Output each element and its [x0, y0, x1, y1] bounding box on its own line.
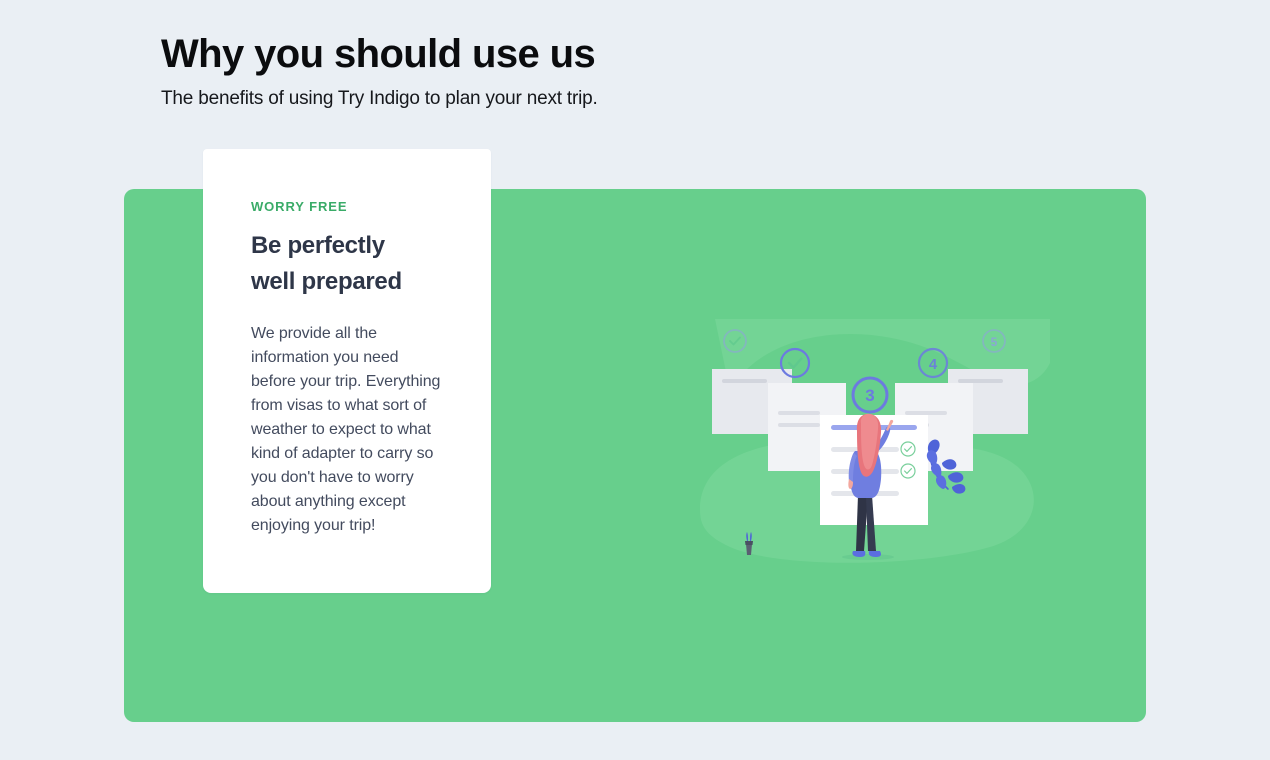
- feature-card: WORRY FREE Be perfectly well prepared We…: [203, 149, 491, 593]
- document-line: [778, 411, 820, 415]
- document-line: [778, 423, 820, 427]
- document-line: [958, 379, 1003, 383]
- card-heading-line1: Be perfectly: [251, 232, 385, 259]
- card-heading-line2: well prepared: [251, 268, 402, 295]
- step-circle-5-label: 5: [991, 335, 998, 349]
- checklist-illustration: 3 4 5: [690, 319, 1050, 609]
- card-body: We provide all the information you need …: [251, 322, 443, 538]
- page-header: Why you should use us The benefits of us…: [161, 28, 1061, 112]
- step-circle-4-label: 4: [929, 356, 938, 373]
- page-subtitle: The benefits of using Try Indigo to plan…: [161, 86, 1061, 112]
- document-line: [722, 379, 767, 383]
- step-circle-2: [781, 349, 809, 377]
- document-line: [905, 411, 947, 415]
- card-heading: Be perfectly well prepared: [251, 228, 443, 300]
- page-title: Why you should use us: [161, 28, 1061, 80]
- step-circle-4[interactable]: 4: [919, 349, 947, 377]
- card-eyebrow: WORRY FREE: [251, 199, 443, 214]
- step-circle-3[interactable]: 3: [853, 378, 887, 412]
- step-circle-3-label: 3: [865, 386, 874, 405]
